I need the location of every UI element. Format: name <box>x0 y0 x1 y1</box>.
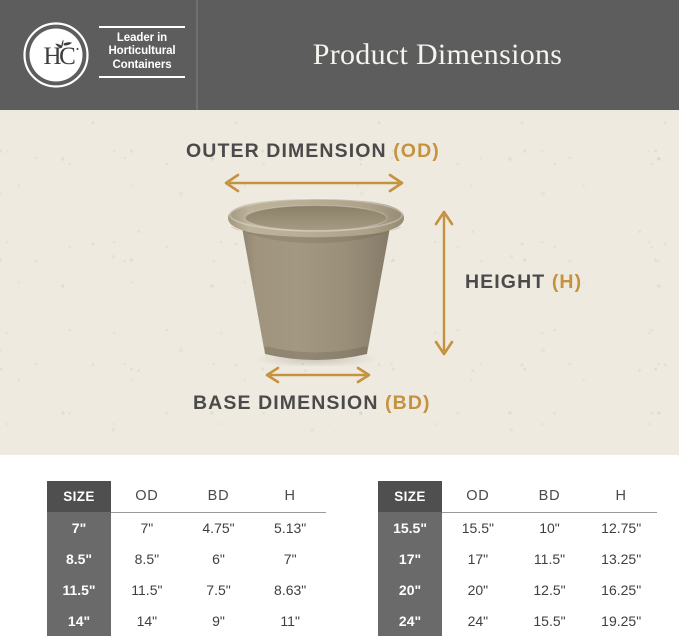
cell-bd: 6" <box>183 543 255 574</box>
height-abbr: (H) <box>552 271 582 293</box>
outer-dimension-label: OUTER DIMENSION (OD) <box>186 140 440 163</box>
cell-bd: 4.75" <box>183 512 255 543</box>
cell-od: 14" <box>111 605 183 636</box>
base-dimension-arrow-icon <box>260 364 376 386</box>
tagline-line-3: Containers <box>99 59 185 73</box>
cell-size: 17" <box>378 543 442 574</box>
base-dimension-text: BASE DIMENSION <box>193 392 379 414</box>
cell-od: 17" <box>442 543 514 574</box>
hc-circle-logo-icon: H C <box>22 21 90 89</box>
table-header-row: SIZE OD BD H <box>47 481 326 512</box>
table-header-row: SIZE OD BD H <box>378 481 657 512</box>
tagline-line-2: Horticultural <box>99 45 185 59</box>
cell-bd: 7.5" <box>183 574 255 605</box>
table-row: 15.5" 15.5" 10" 12.75" <box>378 512 657 543</box>
table-row: 7" 7" 4.75" 5.13" <box>47 512 326 543</box>
table-row: 11.5" 11.5" 7.5" 8.63" <box>47 574 326 605</box>
cell-bd: 12.5" <box>514 574 586 605</box>
cell-od: 11.5" <box>111 574 183 605</box>
svg-text:C: C <box>59 43 76 70</box>
height-label: HEIGHT (H) <box>465 271 582 294</box>
base-dimension-abbr: (BD) <box>385 392 431 414</box>
cell-od: 7" <box>111 512 183 543</box>
cell-size: 24" <box>378 605 442 636</box>
table-row: 24" 24" 15.5" 19.25" <box>378 605 657 636</box>
column-header-bd: BD <box>183 481 255 512</box>
outer-dimension-arrow-icon <box>219 171 409 195</box>
cell-h: 16.25" <box>585 574 657 605</box>
outer-dimension-text: OUTER DIMENSION <box>186 140 387 162</box>
column-header-h: H <box>254 481 326 512</box>
cell-bd: 15.5" <box>514 605 586 636</box>
dimensions-table-right: SIZE OD BD H 15.5" 15.5" 10" 12.75" 17" … <box>378 481 657 636</box>
table-row: 20" 20" 12.5" 16.25" <box>378 574 657 605</box>
table-row: 8.5" 8.5" 6" 7" <box>47 543 326 574</box>
table-row: 17" 17" 11.5" 13.25" <box>378 543 657 574</box>
tagline-block: Leader in Horticultural Containers <box>99 26 185 78</box>
cell-h: 8.63" <box>254 574 326 605</box>
cell-h: 5.13" <box>254 512 326 543</box>
cell-size: 8.5" <box>47 543 111 574</box>
tagline-text: Leader in Horticultural Containers <box>99 28 185 77</box>
base-dimension-label: BASE DIMENSION (BD) <box>193 392 431 415</box>
cell-size: 11.5" <box>47 574 111 605</box>
cell-size: 15.5" <box>378 512 442 543</box>
column-header-h: H <box>585 481 657 512</box>
cell-h: 12.75" <box>585 512 657 543</box>
tagline-rule-bottom <box>99 76 185 78</box>
cell-h: 13.25" <box>585 543 657 574</box>
cell-size: 7" <box>47 512 111 543</box>
cell-od: 20" <box>442 574 514 605</box>
column-header-od: OD <box>442 481 514 512</box>
table-row: 14" 14" 9" 11" <box>47 605 326 636</box>
cell-od: 24" <box>442 605 514 636</box>
cell-od: 15.5" <box>442 512 514 543</box>
height-arrow-icon <box>432 205 456 361</box>
column-header-size: SIZE <box>47 481 111 512</box>
cell-bd: 10" <box>514 512 586 543</box>
tagline-line-1: Leader in <box>99 32 185 46</box>
product-dimensions-infographic: H C Leader in Horticultural Containers P… <box>0 0 679 636</box>
cell-size: 14" <box>47 605 111 636</box>
cell-bd: 11.5" <box>514 543 586 574</box>
column-header-od: OD <box>111 481 183 512</box>
column-header-size: SIZE <box>378 481 442 512</box>
dimensions-table-left: SIZE OD BD H 7" 7" 4.75" 5.13" 8.5" 8.5"… <box>47 481 326 636</box>
cell-h: 11" <box>254 605 326 636</box>
planter-pot-illustration <box>218 196 414 366</box>
cell-bd: 9" <box>183 605 255 636</box>
outer-dimension-abbr: (OD) <box>393 140 440 162</box>
cell-od: 8.5" <box>111 543 183 574</box>
page-title: Product Dimensions <box>196 0 679 110</box>
cell-h: 19.25" <box>585 605 657 636</box>
column-header-bd: BD <box>514 481 586 512</box>
cell-size: 20" <box>378 574 442 605</box>
header-bar: H C Leader in Horticultural Containers P… <box>0 0 679 110</box>
height-text: HEIGHT <box>465 271 545 293</box>
cell-h: 7" <box>254 543 326 574</box>
